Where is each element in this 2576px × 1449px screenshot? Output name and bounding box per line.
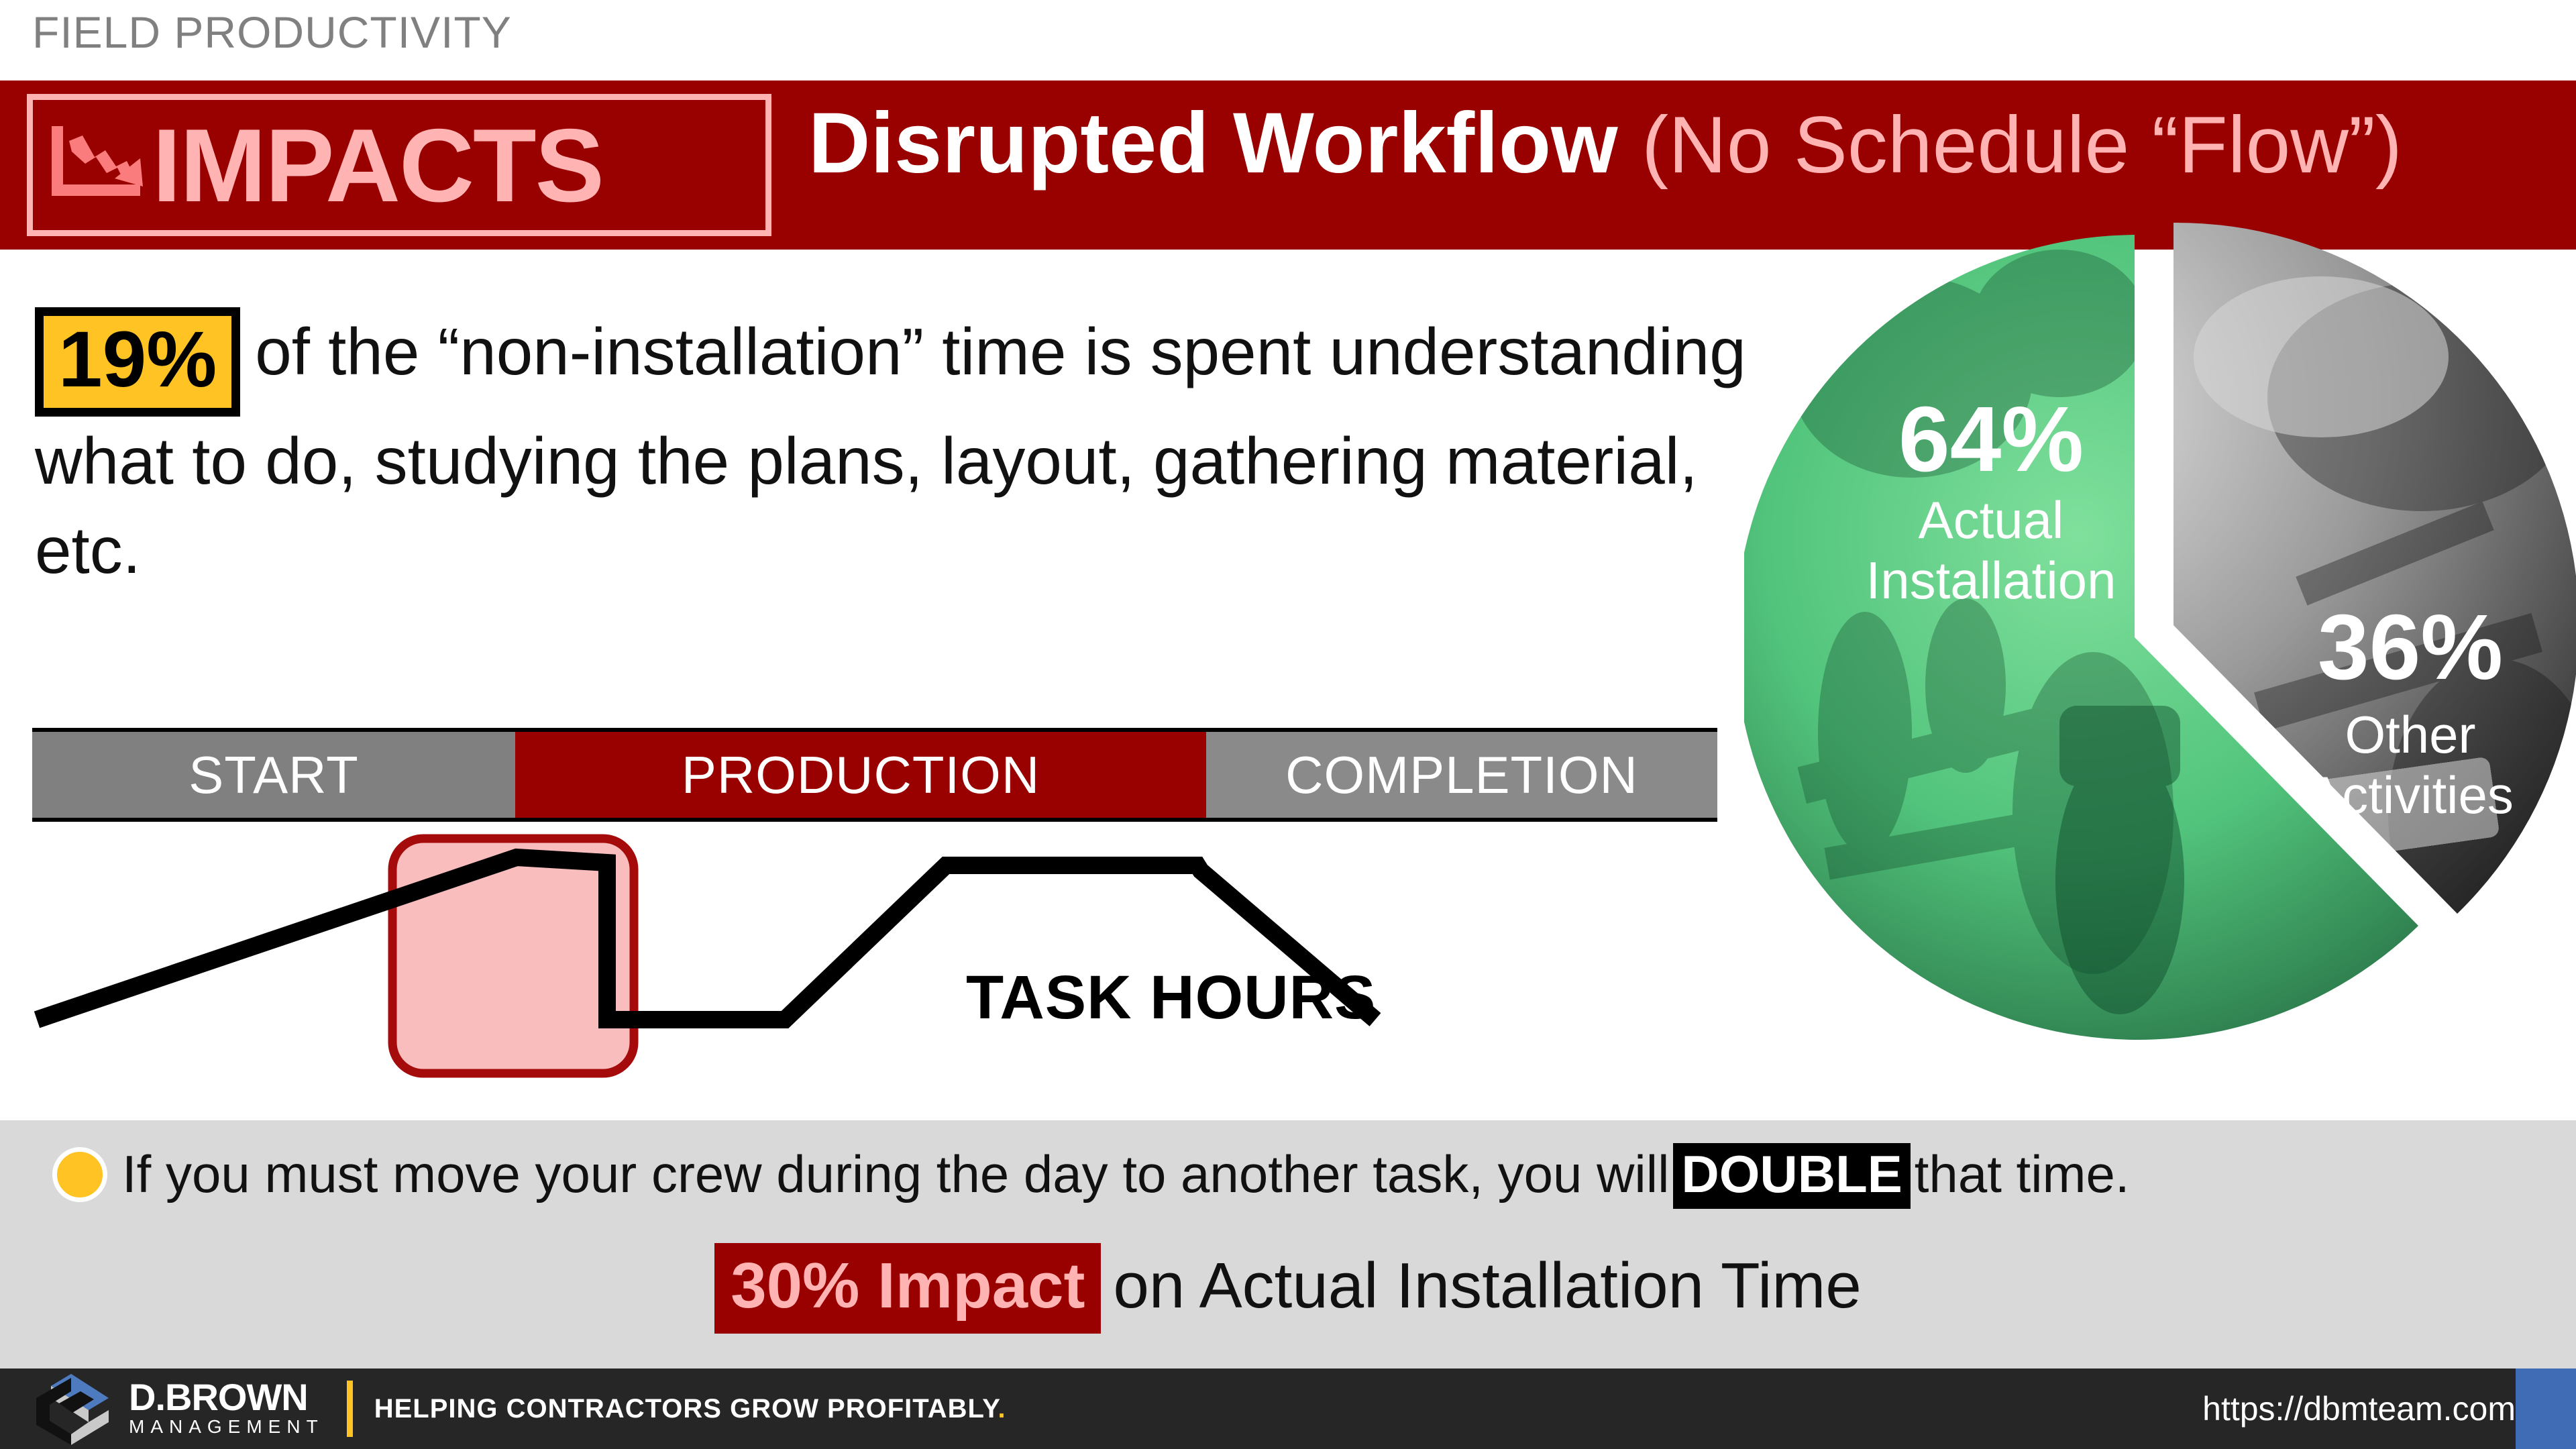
pie-chart-svg: 64% Actual Installation 36% Other Activi…	[1744, 223, 2576, 1048]
phase-segment-start: START	[32, 732, 515, 818]
footer-tagline-text: HELPING CONTRACTORS GROW PROFITABLY	[374, 1394, 998, 1424]
callout-bullet-row: If you must move your crew during the da…	[52, 1144, 2534, 1205]
task-hours-label: TASK HOURS	[966, 963, 1376, 1033]
impacts-label: IMPACTS	[152, 113, 603, 217]
impact-rest: on Actual Installation Time	[1113, 1250, 1861, 1322]
phase-segment-production: PRODUCTION	[515, 732, 1206, 818]
disruption-highlight	[392, 839, 634, 1073]
footer-tagline-dot: .	[998, 1394, 1006, 1424]
task-hours-curve	[0, 825, 1758, 1107]
footer-logo-subtitle: MANAGEMENT	[129, 1415, 324, 1438]
footer-divider	[347, 1381, 353, 1437]
stat-paragraph-text: of the “non-installation” time is spent …	[35, 315, 1746, 587]
footer-bar: D.BROWN MANAGEMENT HELPING CONTRACTORS G…	[0, 1368, 2576, 1449]
phase-bar: START PRODUCTION COMPLETION	[32, 728, 1717, 822]
eyebrow-label: FIELD PRODUCTIVITY	[32, 7, 512, 58]
callout-text: If you must move your crew during the da…	[122, 1144, 2130, 1205]
stat-badge: 19%	[35, 307, 240, 417]
bullet-dot-icon	[52, 1147, 107, 1202]
phase-segment-completion: COMPLETION	[1206, 732, 1717, 818]
svg-text:Other: Other	[2345, 705, 2475, 764]
svg-text:Installation: Installation	[1866, 551, 2116, 610]
slide-canvas: FIELD PRODUCTIVITY IMPACTS Disrupted Wor…	[0, 0, 2576, 1449]
declining-chart-icon	[48, 122, 148, 208]
page-title: Disrupted Workflow (No Schedule “Flow”)	[808, 101, 2402, 186]
impacts-badge: IMPACTS	[27, 94, 771, 236]
footer-tagline: HELPING CONTRACTORS GROW PROFITABLY.	[374, 1394, 1006, 1424]
task-hours-curve-svg	[0, 825, 1758, 1107]
svg-text:Activities: Activities	[2307, 765, 2514, 824]
callout-text-after: that time.	[1915, 1144, 2130, 1203]
dbrown-diamond-logo-icon	[30, 1371, 117, 1446]
page-title-main: Disrupted Workflow	[808, 95, 1618, 191]
stat-paragraph: 19%of the “non-installation” time is spe…	[35, 307, 1752, 595]
impact-statement: 30% Impacton Actual Installation Time	[0, 1249, 2576, 1323]
callout-text-before: If you must move your crew during the da…	[122, 1144, 1669, 1203]
callout-emphasis: DOUBLE	[1673, 1143, 1910, 1209]
pie-chart: 64% Actual Installation 36% Other Activi…	[1744, 223, 2576, 1048]
footer-logo-name: D.BROWN	[129, 1379, 324, 1415]
svg-text:Actual: Actual	[1919, 490, 2064, 549]
svg-text:64%: 64%	[1898, 388, 2084, 491]
footer-logo-text: D.BROWN MANAGEMENT	[129, 1379, 324, 1438]
svg-text:36%: 36%	[2318, 596, 2503, 699]
footer-url[interactable]: https://dbmteam.com	[2202, 1389, 2516, 1428]
impact-chip: 30% Impact	[714, 1243, 1101, 1334]
page-title-sub: (No Schedule “Flow”)	[1642, 100, 2402, 190]
footer-accent-cap	[2516, 1368, 2576, 1449]
